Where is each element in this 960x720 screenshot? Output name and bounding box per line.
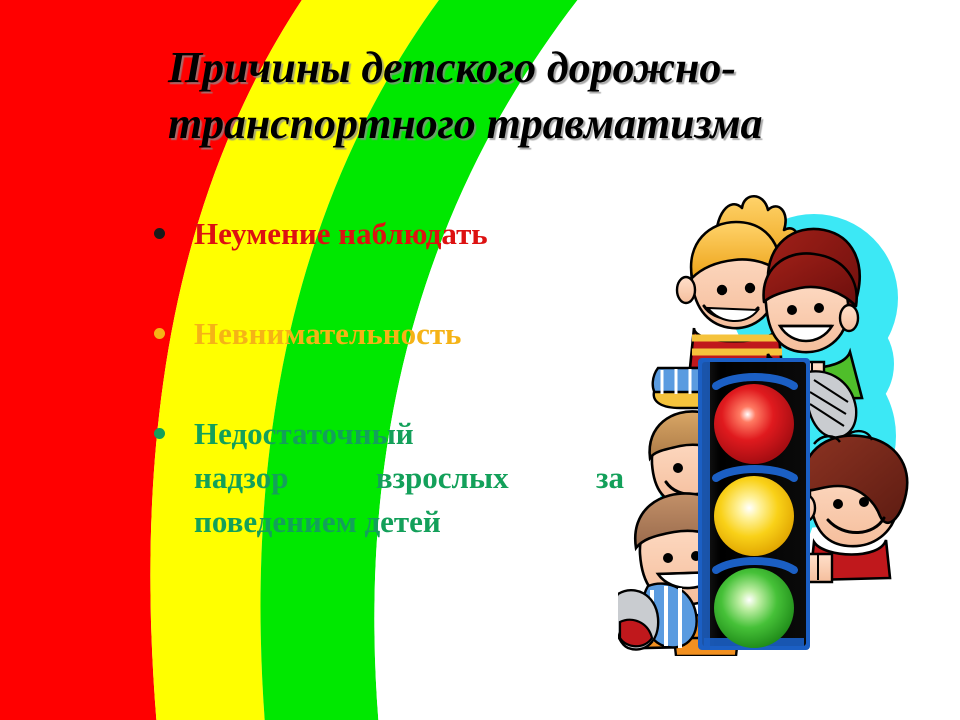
list-item: Неумение наблюдать	[142, 212, 632, 256]
title-line-1: Причины детского дорожно-	[168, 43, 736, 92]
green-light	[714, 568, 794, 648]
yellow-light	[714, 476, 794, 556]
list-item: Невнимательность	[142, 312, 632, 356]
bullet-text-1: Неумение наблюдать	[194, 212, 632, 256]
list-item: Недостаточный надзор взрослых за поведен…	[142, 412, 632, 544]
bullet-dot-icon	[154, 328, 165, 339]
bullet-dot-icon	[154, 228, 165, 239]
slide-canvas: Причины детского дорожно- транспортного …	[0, 0, 960, 720]
bullet-3-line-1: Недостаточный	[194, 412, 624, 456]
page-title: Причины детского дорожно- транспортного …	[168, 40, 928, 153]
red-light	[714, 384, 794, 464]
traffic-light-with-children-illustration	[618, 186, 960, 656]
title-line-2: транспортного травматизма	[168, 99, 762, 148]
bullet-3-line-2: надзор взрослых за	[194, 456, 624, 500]
bullet-3-word-1: надзор	[194, 456, 288, 500]
bullet-dot-icon	[154, 428, 165, 439]
bullet-3-word-2: взрослых	[376, 456, 509, 500]
bullet-text-2: Невнимательность	[194, 312, 632, 356]
bullet-list: Неумение наблюдать Невнимательность Недо…	[142, 212, 632, 544]
bullet-text-3: Недостаточный надзор взрослых за поведен…	[194, 412, 624, 544]
bullet-3-line-3: поведением детей	[194, 500, 624, 544]
traffic-light	[698, 358, 810, 650]
